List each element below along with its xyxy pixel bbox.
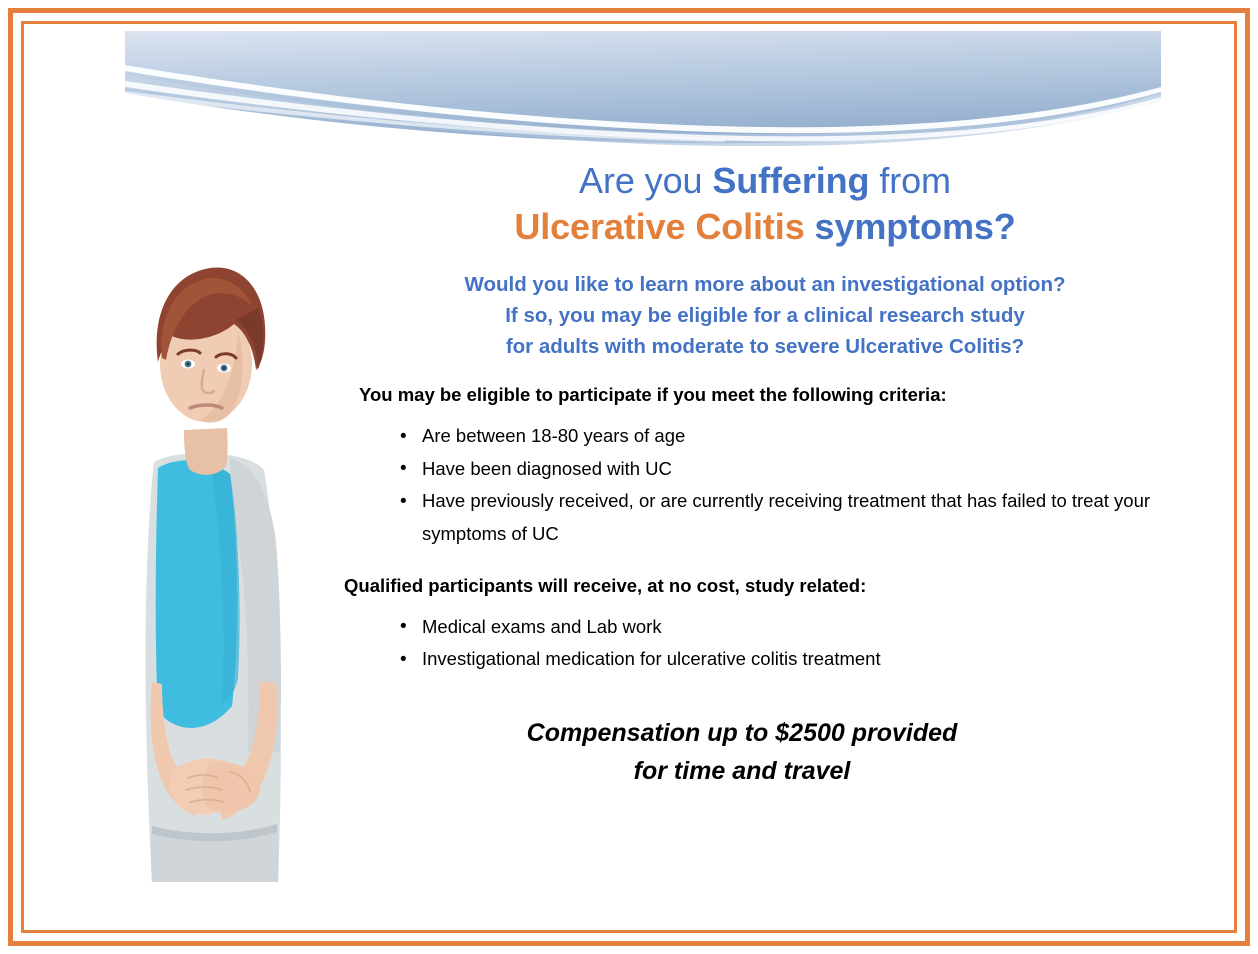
patient-photo	[118, 212, 298, 884]
benefits-title: Qualified participants will receive, at …	[330, 575, 1200, 597]
content-column: Are you Suffering from Ulcerative Coliti…	[330, 158, 1200, 790]
wave-graphic	[125, 31, 1161, 146]
list-item: Are between 18-80 years of age	[400, 420, 1200, 452]
patient-illustration	[118, 212, 298, 884]
subheading-line-3: for adults with moderate to severe Ulcer…	[330, 332, 1200, 363]
list-item: Medical exams and Lab work	[400, 611, 1200, 643]
subheading-line-2: If so, you may be eligible for a clinica…	[330, 301, 1200, 332]
header-wave-banner	[125, 31, 1161, 146]
headline-line-2: Ulcerative Colitis symptoms?	[330, 204, 1200, 250]
flyer-page: Are you Suffering from Ulcerative Coliti…	[0, 0, 1258, 954]
subheading: Would you like to learn more about an in…	[330, 270, 1200, 362]
compensation-line-1: Compensation up to $2500 provided	[330, 714, 1154, 752]
page-title: Are you Suffering from Ulcerative Coliti…	[330, 158, 1200, 250]
list-item: Investigational medication for ulcerativ…	[400, 643, 1200, 675]
benefits-list: Medical exams and Lab work Investigation…	[330, 611, 1200, 676]
list-item: Have previously received, or are current…	[400, 485, 1200, 550]
eligibility-list: Are between 18-80 years of age Have been…	[330, 420, 1200, 550]
eligibility-title: You may be eligible to participate if yo…	[330, 384, 1200, 406]
compensation-note: Compensation up to $2500 provided for ti…	[330, 714, 1200, 790]
list-item: Have been diagnosed with UC	[400, 453, 1200, 485]
compensation-line-2: for time and travel	[330, 752, 1154, 790]
subheading-line-1: Would you like to learn more about an in…	[330, 270, 1200, 301]
headline-line-1: Are you Suffering from	[330, 158, 1200, 204]
